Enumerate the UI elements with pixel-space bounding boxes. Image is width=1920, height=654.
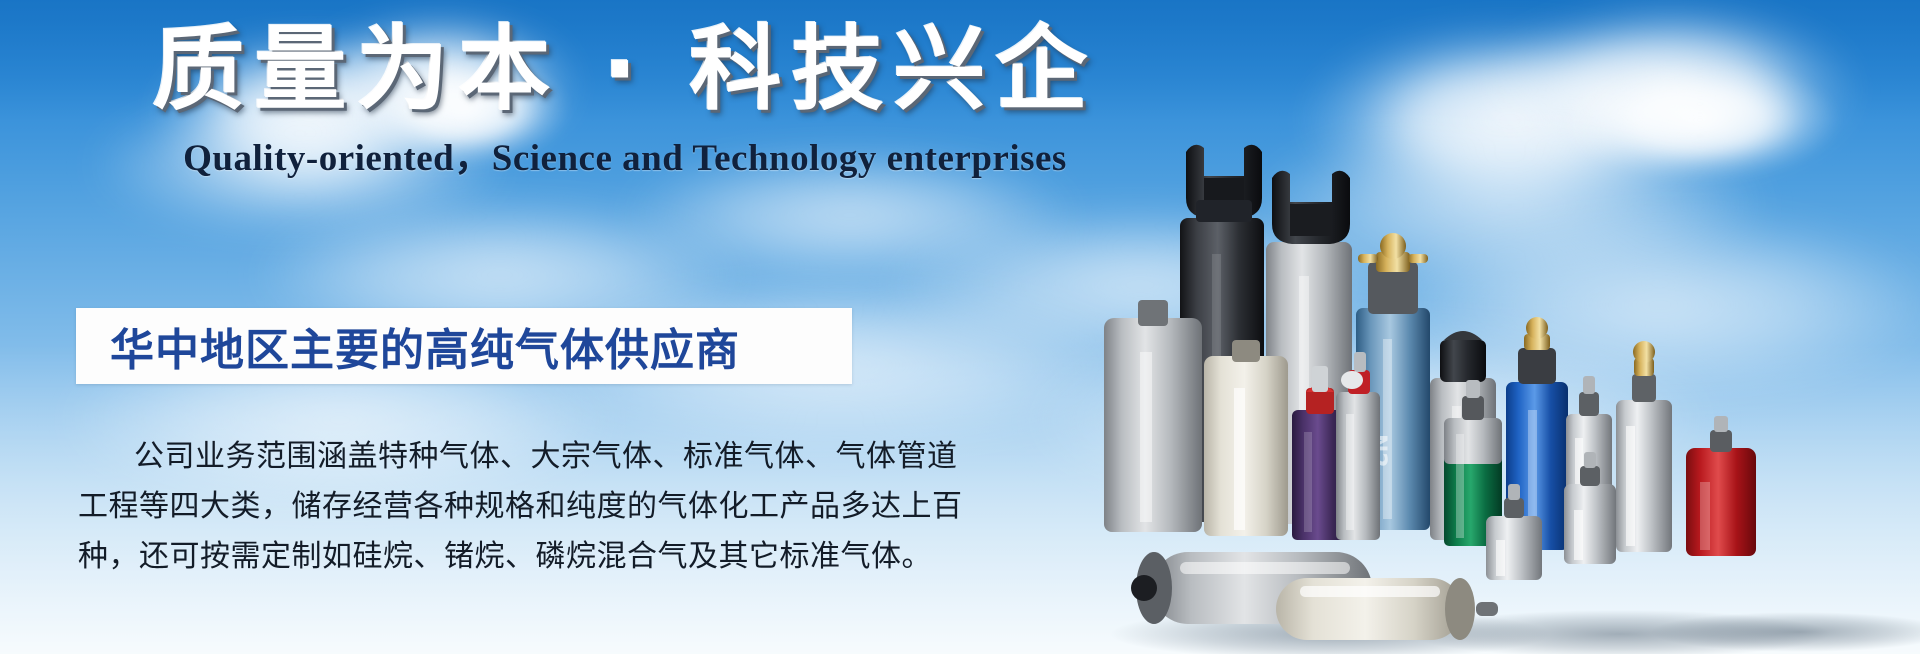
promotional-banner: 质量为本 · 科技兴企 Quality-oriented，Science and… (0, 0, 1920, 654)
gas-cylinders-photo: N2 (1100, 134, 1920, 654)
description-paragraph: 公司业务范围涵盖特种气体、大宗气体、标准气体、气体管道 工程等四大类，储存经营各… (78, 432, 878, 582)
page-title: 质量为本 · 科技兴企 (0, 18, 1250, 121)
page-subtitle: Quality-oriented，Science and Technology … (0, 127, 1250, 181)
gas-cylinder-grey-wide (1104, 300, 1202, 532)
paragraph-line: 工程等四大类，储存经营各种规格和纯度的气体化工产品多达上百 (78, 482, 878, 532)
gas-cylinder-red (1686, 416, 1756, 556)
highlight-text: 华中地区主要的高纯气体供应商 (76, 314, 740, 378)
gas-cylinder-horizontal-white (1276, 578, 1498, 640)
paragraph-line: 公司业务范围涵盖特种气体、大宗气体、标准气体、气体管道 (78, 432, 878, 482)
paragraph-line: 种，还可按需定制如硅烷、锗烷、磷烷混合气及其它标准气体。 (78, 532, 878, 582)
highlight-banner: 华中地区主要的高纯气体供应商 (76, 308, 852, 384)
gas-cylinder-cream (1204, 340, 1288, 536)
headline-block: 质量为本 · 科技兴企 Quality-oriented，Science and… (0, 18, 1250, 181)
gas-cylinder-aluminium-brass (1616, 341, 1672, 552)
